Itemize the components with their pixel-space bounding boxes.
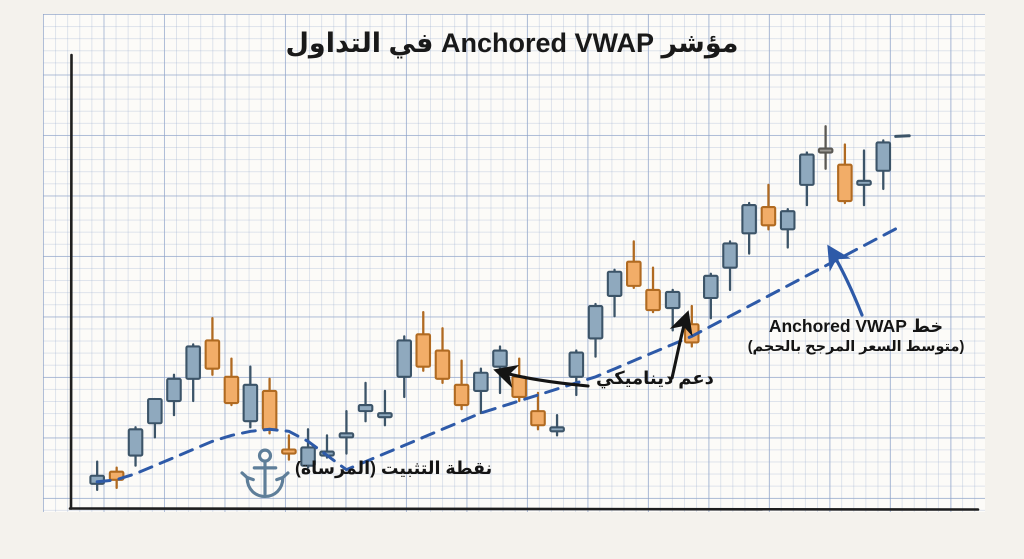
vwap-callout-arrow [830,249,862,315]
candlestick-body [819,149,833,153]
candlestick-body [397,340,411,376]
candlestick-body [742,205,756,233]
candlestick-body [666,292,680,308]
candlestick-body [589,306,603,338]
candlestick-body [781,211,795,229]
candlestick-body [263,391,277,429]
candlestick-body [723,243,737,267]
candlestick-body [225,377,239,403]
candlestick [896,136,910,137]
candlestick-body [627,262,641,286]
candlestick-body [493,351,507,367]
chart-axes [70,55,978,510]
candlestick-body [646,290,660,310]
candlestick-body [877,142,891,170]
candlestick-body [206,340,220,368]
candlestick-body [244,385,258,421]
anchor-icon [242,450,288,496]
candlestick-body [167,379,181,401]
candlestick-body [282,450,296,454]
candlestick-body [800,155,814,185]
vwap-annotation-label: خط Anchored VWAP (متوسط السعر المرجح بال… [745,316,967,356]
candlestick-body [378,413,392,417]
candlestick-body [762,207,776,225]
anchor-annotation-label: نقطة التثبيت (المرساة) [295,458,492,479]
candlestick-body [550,427,564,431]
candlestick-body [148,399,162,423]
candlestick-body [455,385,469,405]
candlestick-body [474,373,488,391]
candlestick-body [570,353,584,377]
candlestick-body [531,411,545,425]
candlestick-body [608,272,622,296]
candlestick-body [704,276,718,298]
candlestick-body [512,377,526,397]
chart-graphics [0,0,1024,559]
vwap-annotation-subtitle: (متوسط السعر المرجح بالحجم) [745,339,967,356]
candlestick-body [417,334,431,366]
candlestick-body [186,346,200,378]
candlestick-body [857,181,871,185]
candlestick-body [359,405,373,411]
chart-canvas: مؤشر Anchored VWAP في التداول [0,0,1024,559]
candlestick-body [436,351,450,379]
candlestick-body [340,433,354,437]
candlestick-body [129,429,143,455]
candlestick-series [90,126,909,490]
candlestick-body [838,165,852,201]
vwap-annotation-title: خط Anchored VWAP [769,316,943,336]
support-annotation-label: دعم ديناميكي [596,368,714,389]
